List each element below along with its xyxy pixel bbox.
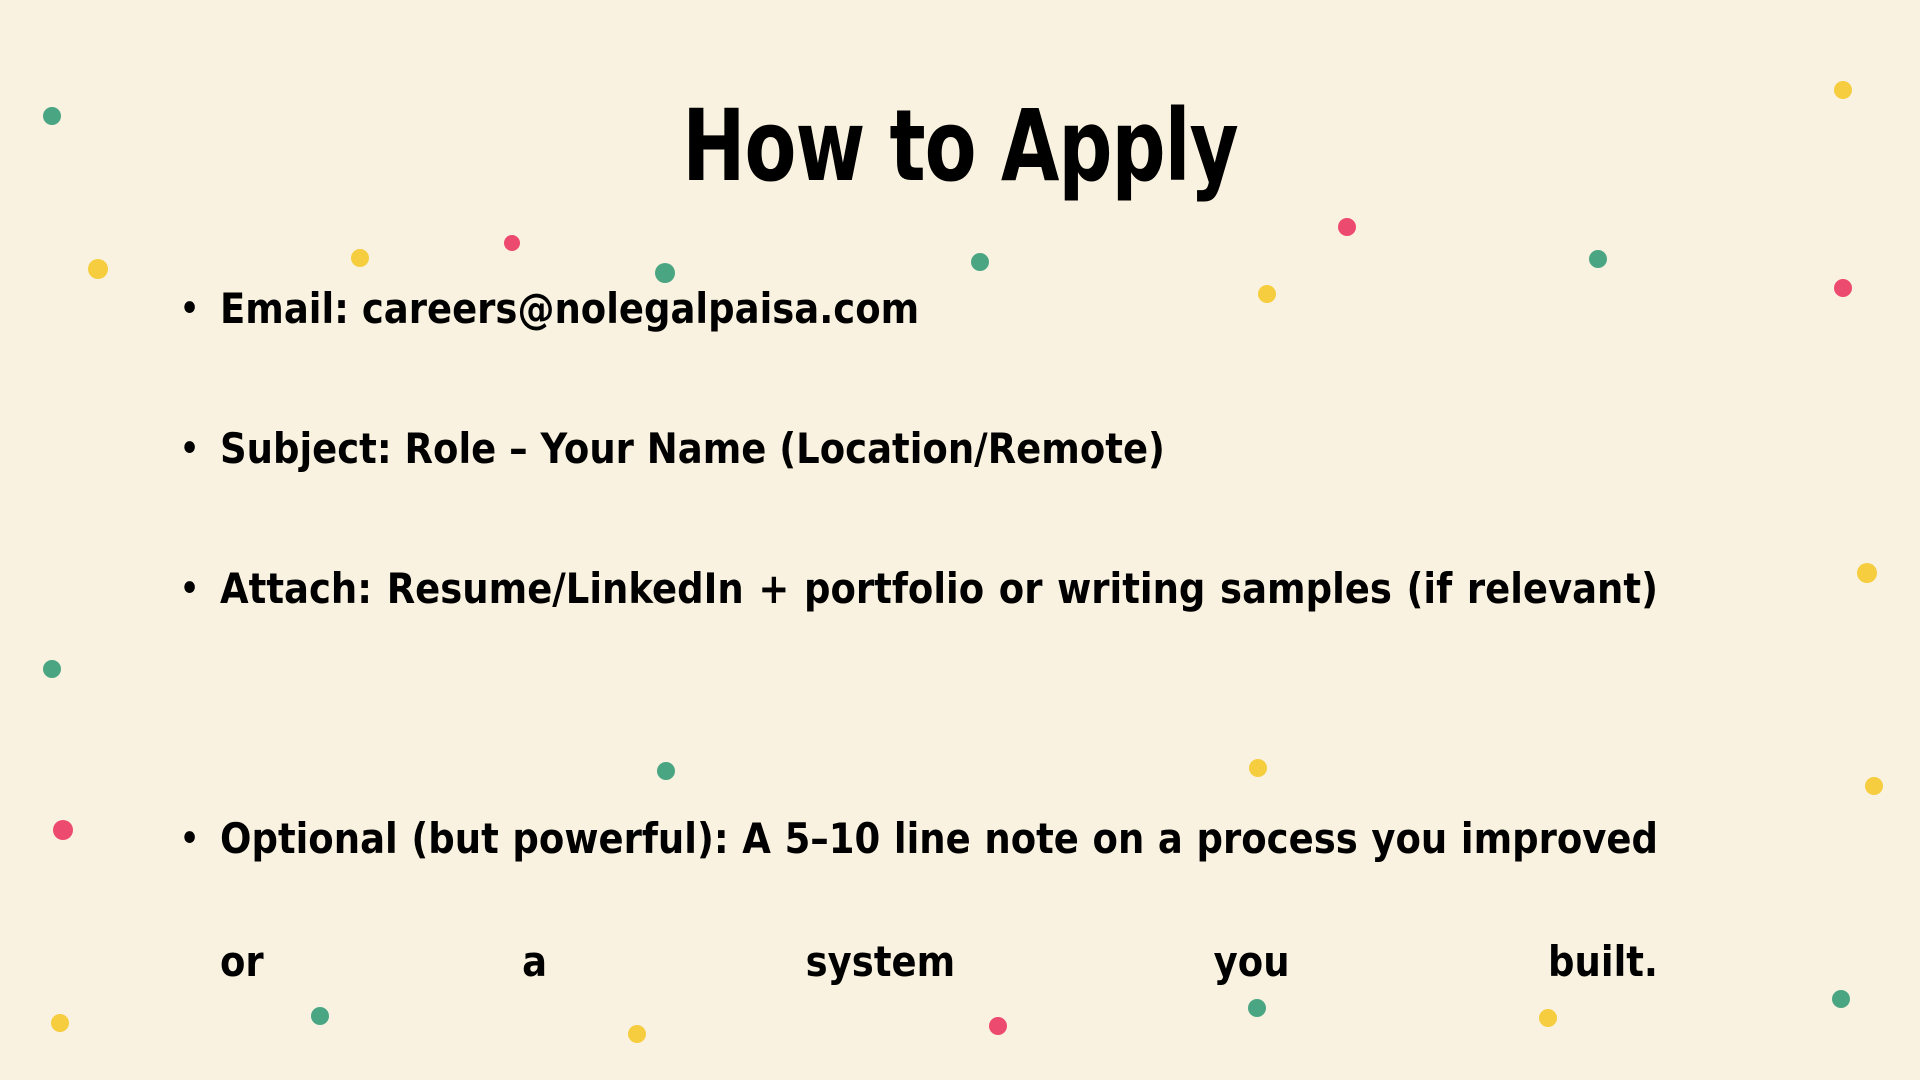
bullet-marker-icon: • [180, 778, 192, 901]
bullet-subject: •Subject: Role – Your Name (Location/Rem… [178, 388, 1658, 511]
page-title: How to Apply [0, 96, 1920, 195]
bullet-subject-text: Subject: Role – Your Name (Location/Remo… [220, 388, 1658, 511]
bullet-email: •Email: careers@nolegalpaisa.com [178, 248, 1658, 371]
bullet-email-text: Email: careers@nolegalpaisa.com [220, 248, 1658, 371]
bullet-marker-icon: • [180, 248, 192, 371]
bullet-optional: •Optional (but powerful): A 5–10 line no… [178, 778, 1658, 1080]
bullet-marker-icon: • [180, 528, 192, 651]
bullet-list: •Email: careers@nolegalpaisa.com•Subject… [178, 248, 1658, 1080]
bullet-attach-text: Attach: Resume/LinkedIn + portfolio or w… [220, 528, 1658, 774]
slide-canvas: How to Apply •Email: careers@nolegalpais… [0, 0, 1920, 1080]
slide-content: How to Apply •Email: careers@nolegalpais… [0, 0, 1920, 1080]
bullet-optional-text: Optional (but powerful): A 5–10 line not… [220, 778, 1658, 1080]
bullet-marker-icon: • [180, 388, 192, 511]
bullet-attach: •Attach: Resume/LinkedIn + portfolio or … [178, 528, 1658, 774]
